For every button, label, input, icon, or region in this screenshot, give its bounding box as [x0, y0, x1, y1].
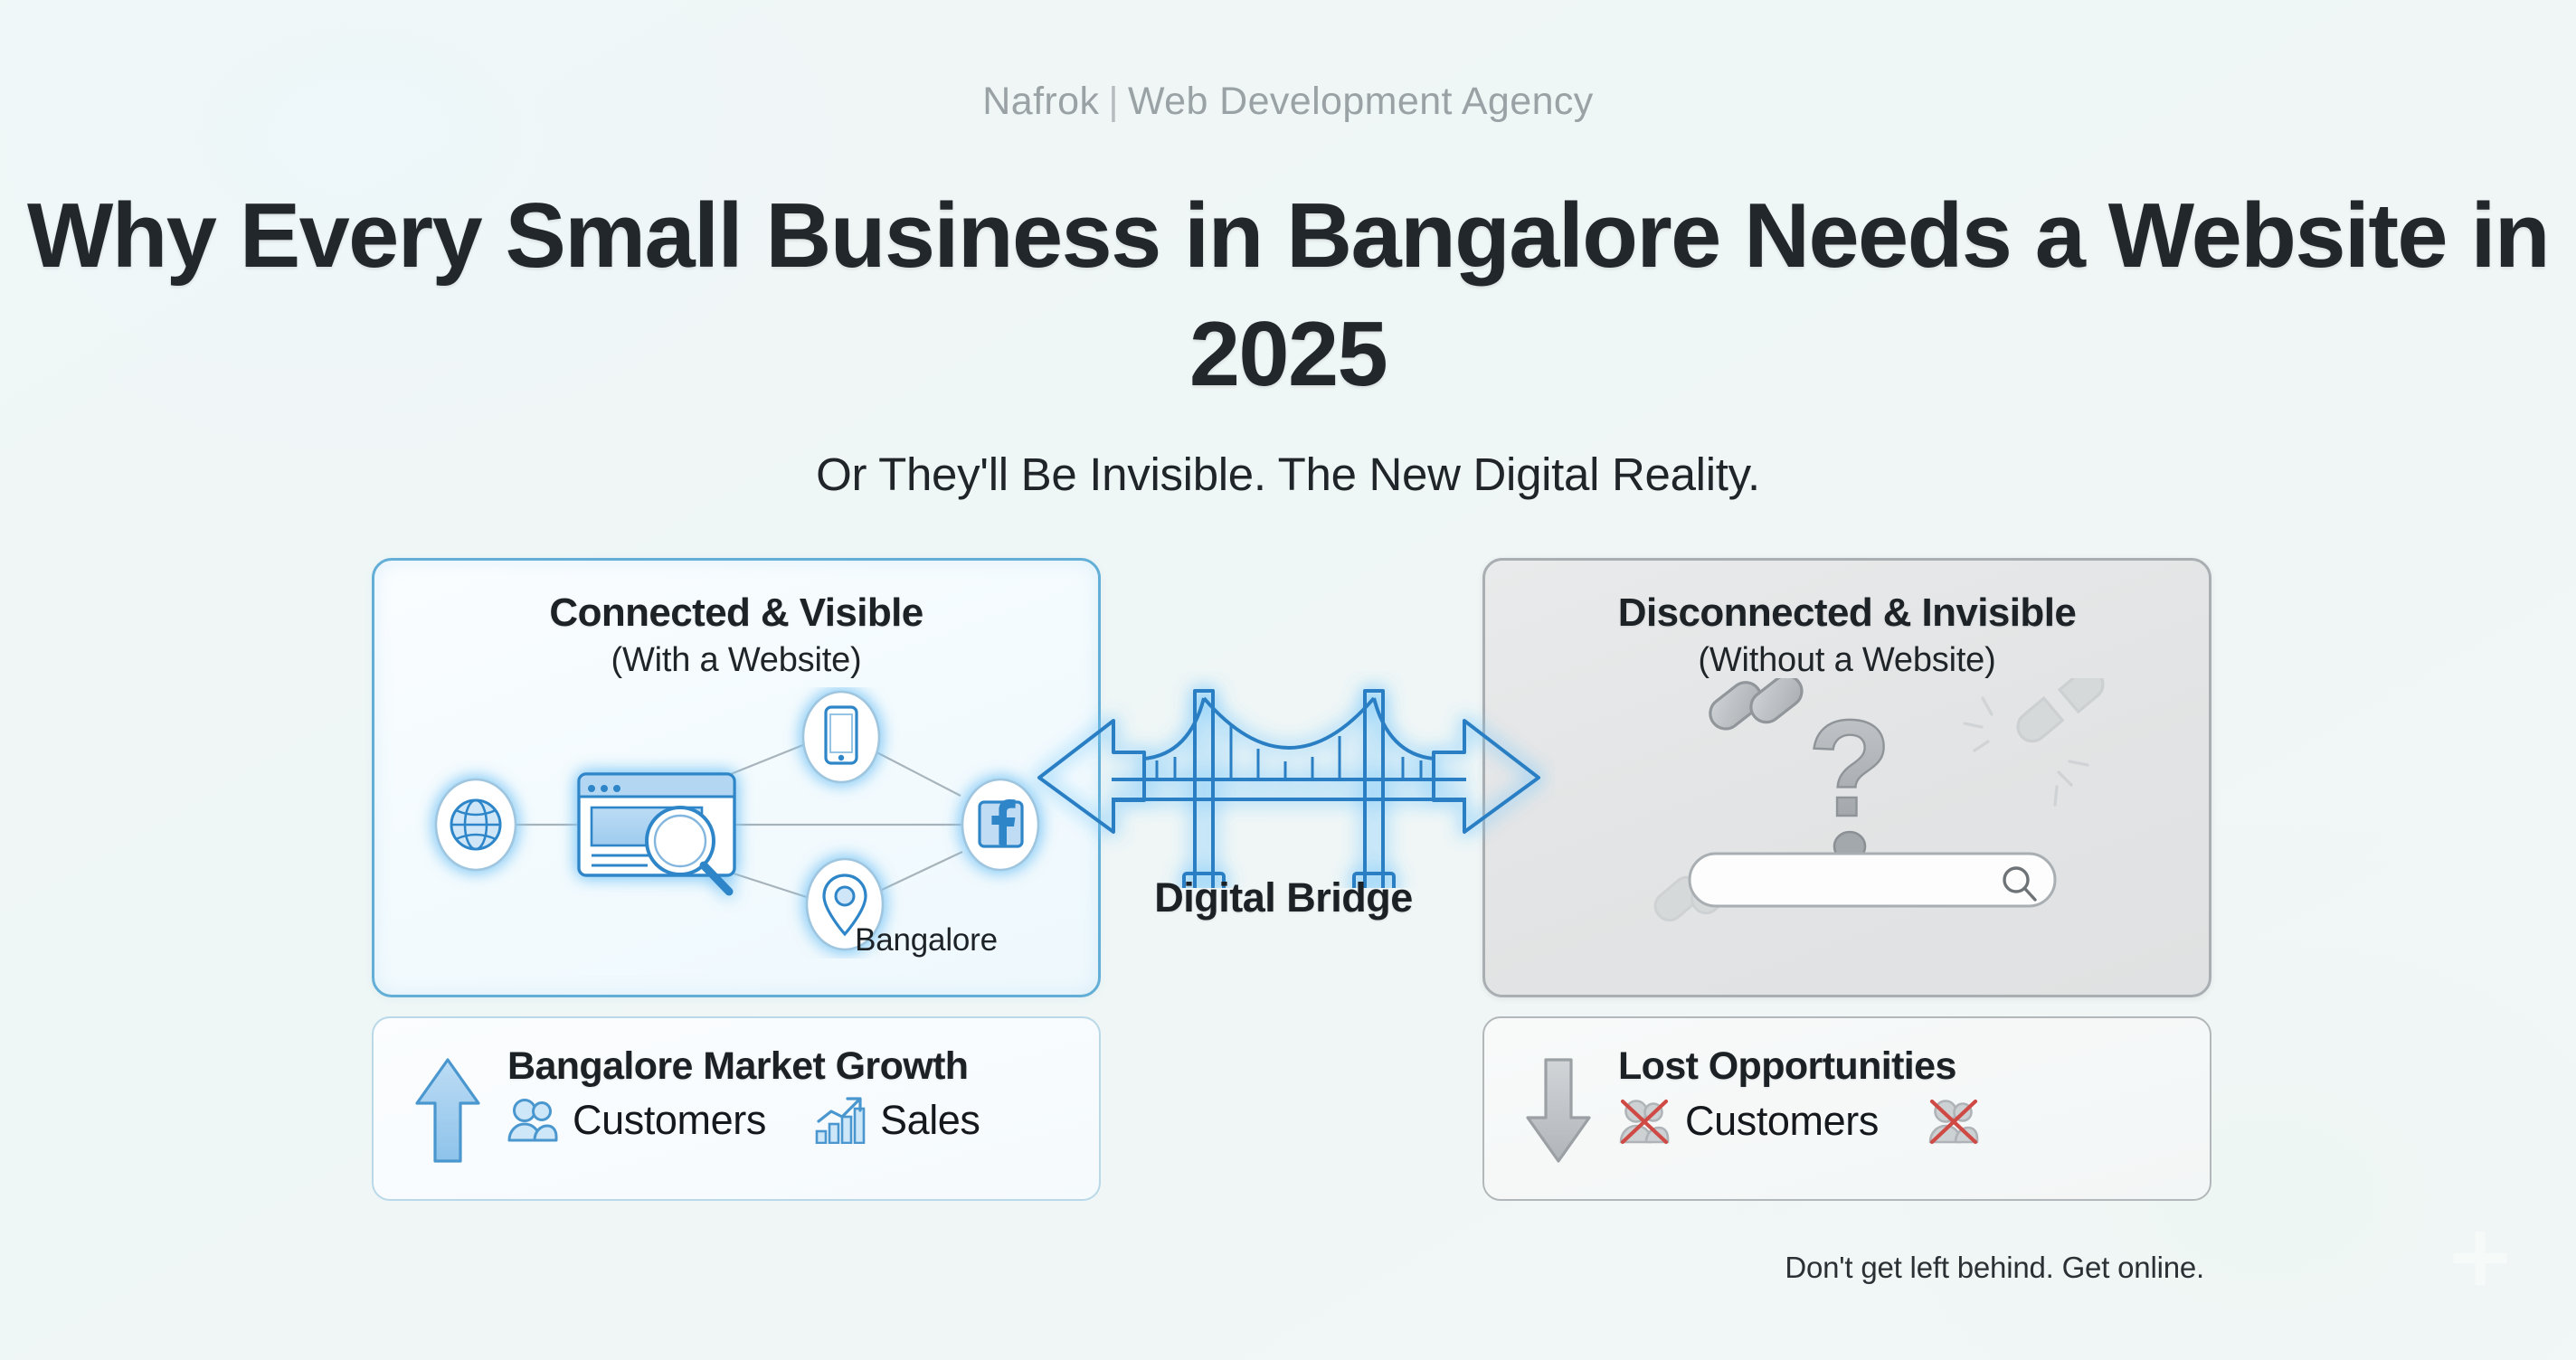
panel-disconnected-invisible: Disconnected & Invisible (Without a Webs… — [1482, 558, 2211, 997]
brand-name: Nafrok — [982, 80, 1099, 123]
network-connector-lines — [508, 737, 964, 902]
connected-network-diagram — [414, 687, 1065, 959]
digital-bridge-label: Digital Bridge — [1012, 874, 1555, 921]
panel-right-title: Disconnected & Invisible — [1485, 590, 2209, 636]
page-subtitle: Or They'll Be Invisible. The New Digital… — [0, 448, 2576, 501]
card-right-title: Lost Opportunities — [1618, 1044, 2192, 1090]
disconnected-diagram: ? — [1512, 678, 2187, 977]
globe-icon — [436, 779, 516, 870]
broken-chain-link-icon — [1704, 678, 1808, 751]
card-lost-opportunities: Lost Opportunities Customers — [1482, 1016, 2211, 1201]
watermark-icon — [2420, 1214, 2538, 1313]
card-left-metric-sales: Sales — [880, 1097, 980, 1144]
snapped-chain-icon — [1965, 678, 2108, 805]
card-right-body: Lost Opportunities Customers — [1618, 1044, 2192, 1146]
page-title: Why Every Small Business in Bangalore Ne… — [0, 177, 2576, 415]
suspension-bridge-double-arrow-icon — [1012, 671, 1555, 888]
card-left-body: Bangalore Market Growth Customers — [507, 1044, 1081, 1144]
growth-bar-chart-icon — [815, 1097, 866, 1144]
card-bangalore-market-growth: Bangalore Market Growth Customers — [372, 1016, 1101, 1201]
mobile-phone-icon — [803, 692, 879, 782]
empty-search-bar — [1690, 854, 2055, 906]
digital-bridge: Digital Bridge — [1012, 671, 1555, 960]
question-mark-icon: ? — [1808, 692, 1892, 861]
svg-text:?: ? — [1808, 692, 1892, 845]
down-arrow-icon — [1526, 1056, 1591, 1165]
card-left-title: Bangalore Market Growth — [507, 1044, 1081, 1090]
panel-right-subtitle: (Without a Website) — [1485, 641, 2209, 680]
brand-separator: | — [1099, 80, 1128, 123]
bangalore-location-label: Bangalore — [818, 922, 1035, 959]
card-right-metric-customers: Customers — [1685, 1098, 1879, 1145]
panel-connected-visible: Connected & Visible (With a Website) — [372, 558, 1101, 997]
footer-tagline: Don't get left behind. Get online. — [1785, 1251, 2204, 1285]
card-left-metrics: Customers Sales — [507, 1097, 1081, 1144]
people-crossed-out-icon — [1618, 1097, 1671, 1146]
up-arrow-icon — [415, 1056, 480, 1165]
panel-left-subtitle: (With a Website) — [374, 641, 1098, 680]
people-crossed-out-icon — [1927, 1097, 1980, 1146]
panel-left-title: Connected & Visible — [374, 590, 1098, 636]
card-left-metric-customers: Customers — [573, 1097, 766, 1144]
card-right-metrics: Customers — [1618, 1097, 2192, 1146]
brand-tagline: Web Development Agency — [1128, 80, 1594, 123]
people-icon — [507, 1097, 558, 1144]
brand-header: Nafrok|Web Development Agency — [0, 80, 2576, 124]
